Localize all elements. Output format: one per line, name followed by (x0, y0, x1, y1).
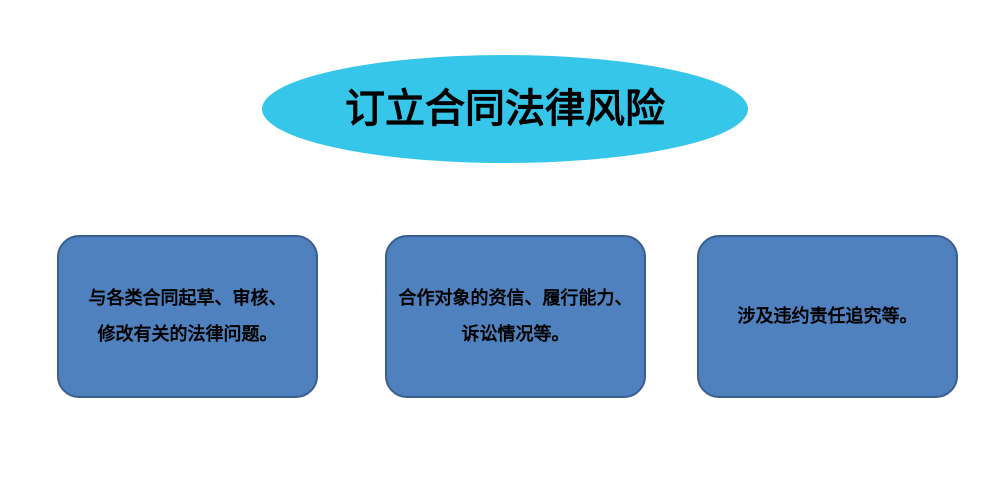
title-node-label: 订立合同法律风险 (345, 87, 665, 131)
risk-box-1[interactable]: 与各类合同起草、审核、 修改有关的法律问题。 (57, 235, 318, 398)
risk-box-2-label: 合作对象的资信、履行能力、 诉讼情况等。 (399, 281, 633, 353)
risk-box-3-label: 涉及违约责任追究等。 (738, 299, 918, 335)
risk-box-2[interactable]: 合作对象的资信、履行能力、 诉讼情况等。 (385, 235, 646, 398)
diagram-canvas: 订立合同法律风险 与各类合同起草、审核、 修改有关的法律问题。 合作对象的资信、… (0, 0, 1000, 500)
risk-box-3[interactable]: 涉及违约责任追究等。 (697, 235, 958, 398)
title-ellipse-node[interactable]: 订立合同法律风险 (262, 55, 748, 163)
risk-box-row: 与各类合同起草、审核、 修改有关的法律问题。 合作对象的资信、履行能力、 诉讼情… (0, 235, 1000, 398)
risk-box-1-label: 与各类合同起草、审核、 修改有关的法律问题。 (89, 281, 287, 353)
